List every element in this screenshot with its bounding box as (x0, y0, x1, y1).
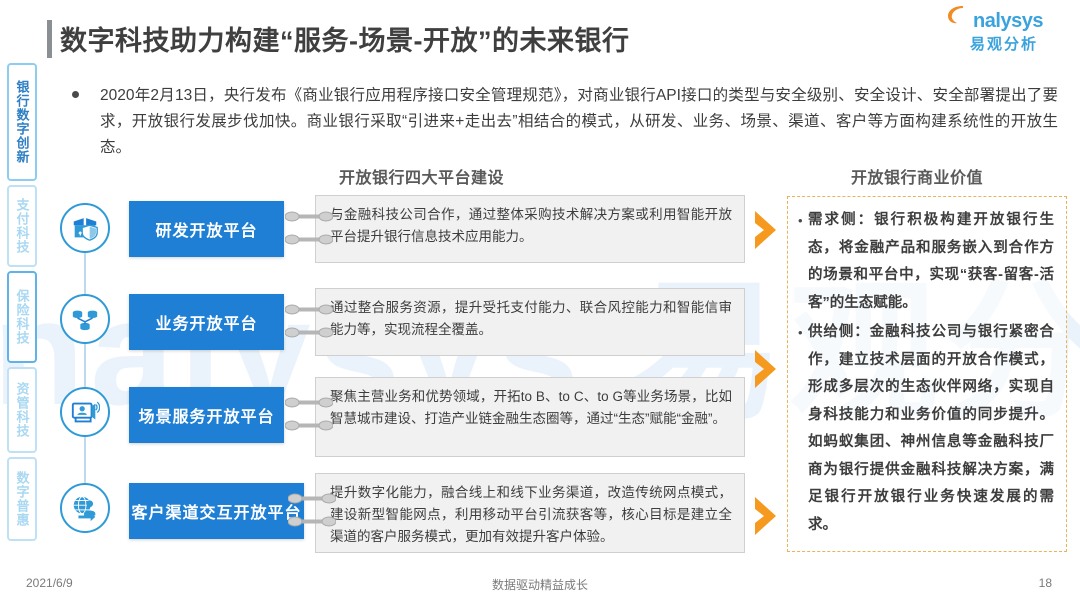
sidebar-item-insurance-tech[interactable]: 保险科技 (7, 271, 37, 363)
platform-description-text: 通过整合服务资源，提升受托支付能力、联合风控能力和智能信审能力等，实现流程全覆盖… (330, 300, 732, 337)
logo-swoosh-icon (947, 4, 967, 26)
right-column-heading: 开放银行商业价值 (851, 164, 983, 188)
value-item-text: 需求侧：银行积极构建开放银行生态，将金融产品和服务嵌入到合作方的场景和平台中，实… (808, 207, 1054, 317)
platform-description-box: 提升数字化能力，融合线上和线下业务渠道，改造传统网点模式，建设新型智能网点，利用… (315, 473, 745, 553)
connector-link-icon (285, 211, 333, 222)
connector-link-icon (288, 493, 336, 504)
value-bullet-icon: • (798, 207, 808, 317)
sidebar-item-label: 银行数字创新 (15, 80, 30, 164)
platform-name-box[interactable]: 业务开放平台 (129, 294, 284, 350)
platform-description-text: 与金融科技公司合作，通过整体采购技术解决方案或利用智能开放平台提升银行信息技术应… (330, 207, 732, 244)
business-value-panel: • 需求侧：银行积极构建开放银行生态，将金融产品和服务嵌入到合作方的场景和平台中… (787, 196, 1067, 552)
platform-name-box[interactable]: 场景服务开放平台 (129, 387, 284, 443)
platform-description-text: 聚焦主营业务和优势领域，开拓to B、to C、to G等业务场景，比如智慧城市… (330, 389, 732, 426)
intro-paragraph: 2020年2月13日，央行发布《商业银行应用程序接口安全管理规范》，对商业银行A… (100, 83, 1058, 161)
analysys-logo: nalysys 易观分析 (944, 10, 1064, 54)
platform-row: 业务开放平台 通过整合服务资源，提升受托支付能力、联合风控能力和智能信审能力等，… (0, 288, 790, 376)
value-list-item: • 需求侧：银行积极构建开放银行生态，将金融产品和服务嵌入到合作方的场景和平台中… (798, 207, 1054, 317)
platform-description-box: 聚焦主营业务和优势领域，开拓to B、to C、to G等业务场景，比如智慧城市… (315, 377, 745, 457)
platform-description-text: 提升数字化能力，融合线上和线下业务渠道，改造传统网点模式，建设新型智能网点，利用… (330, 485, 732, 544)
platform-description-box: 通过整合服务资源，提升受托支付能力、联合风控能力和智能信审能力等，实现流程全覆盖… (315, 288, 745, 356)
platform-name-box[interactable]: 研发开放平台 (129, 201, 284, 257)
sidebar-item-label: 支付科技 (15, 198, 30, 254)
globe-user-icon (60, 483, 110, 533)
platform-description-box: 与金融科技公司合作，通过整体采购技术解决方案或利用智能开放平台提升银行信息技术应… (315, 195, 745, 263)
chevron-right-icon (752, 495, 782, 537)
sidebar-item-asset-management-tech[interactable]: 资管科技 (7, 367, 37, 453)
platform-name-label: 业务开放平台 (155, 310, 257, 334)
logo-chinese-text: 易观分析 (944, 33, 1064, 54)
sidebar-item-digital-inclusive-finance[interactable]: 数字普惠 (7, 457, 37, 541)
chevron-right-icon (752, 209, 782, 251)
connector-link-icon (285, 234, 333, 245)
platform-row: 场景服务开放平台 聚焦主营业务和优势领域，开拓to B、to C、to G等业务… (0, 381, 790, 471)
left-column-heading: 开放银行四大平台建设 (339, 164, 504, 188)
page-footer: 2021/6/9 数据驱动精益成长 18 (0, 576, 1080, 600)
sidebar-item-bank-digital-innovation[interactable]: 银行数字创新 (7, 63, 37, 181)
value-item-text: 供给侧：金融科技公司与银行紧密合作，建立技术层面的开放合作模式，形成多层次的生态… (808, 319, 1054, 539)
page-header: 数字科技助力构建“服务-场景-开放”的未来银行 nalysys 易观分析 (0, 0, 1080, 70)
platform-row: 客户渠道交互开放平台 提升数字化能力，融合线上和线下业务渠道，改造传统网点模式，… (0, 477, 790, 567)
connector-link-icon (285, 397, 333, 408)
logo-wordmark-text: nalysys (973, 10, 1043, 32)
database-network-icon (60, 294, 110, 344)
platform-name-label: 客户渠道交互开放平台 (131, 499, 301, 523)
platform-name-label: 场景服务开放平台 (138, 403, 274, 427)
sidebar-item-label: 资管科技 (15, 382, 30, 438)
logo-wordmark: nalysys (944, 10, 1064, 32)
connector-link-icon (288, 516, 336, 527)
sidebar-item-payment-tech[interactable]: 支付科技 (7, 185, 37, 267)
connector-link-icon (285, 420, 333, 431)
sidebar-item-label: 保险科技 (15, 289, 30, 345)
footer-page-number: 18 (1039, 576, 1052, 590)
package-shield-icon (60, 203, 110, 253)
value-list-item: • 供给侧：金融科技公司与银行紧密合作，建立技术层面的开放合作模式，形成多层次的… (798, 319, 1054, 539)
platform-name-label: 研发开放平台 (155, 217, 257, 241)
platform-row: 研发开放平台 与金融科技公司合作，通过整体采购技术解决方案或利用智能开放平台提升… (0, 195, 790, 283)
connector-link-icon (285, 327, 333, 338)
sidebar-tabs[interactable]: 银行数字创新 支付科技 保险科技 资管科技 数字普惠 (7, 63, 39, 545)
platform-name-box[interactable]: 客户渠道交互开放平台 (129, 483, 304, 539)
title-accent-bar (47, 20, 52, 58)
value-bullet-icon: • (798, 319, 808, 539)
footer-slogan: 数据驱动精益成长 (0, 576, 1080, 593)
connector-link-icon (285, 304, 333, 315)
user-screen-signal-icon (60, 387, 110, 437)
intro-bullet-icon (72, 91, 79, 98)
sidebar-item-label: 数字普惠 (15, 471, 30, 527)
page-title: 数字科技助力构建“服务-场景-开放”的未来银行 (60, 19, 629, 58)
